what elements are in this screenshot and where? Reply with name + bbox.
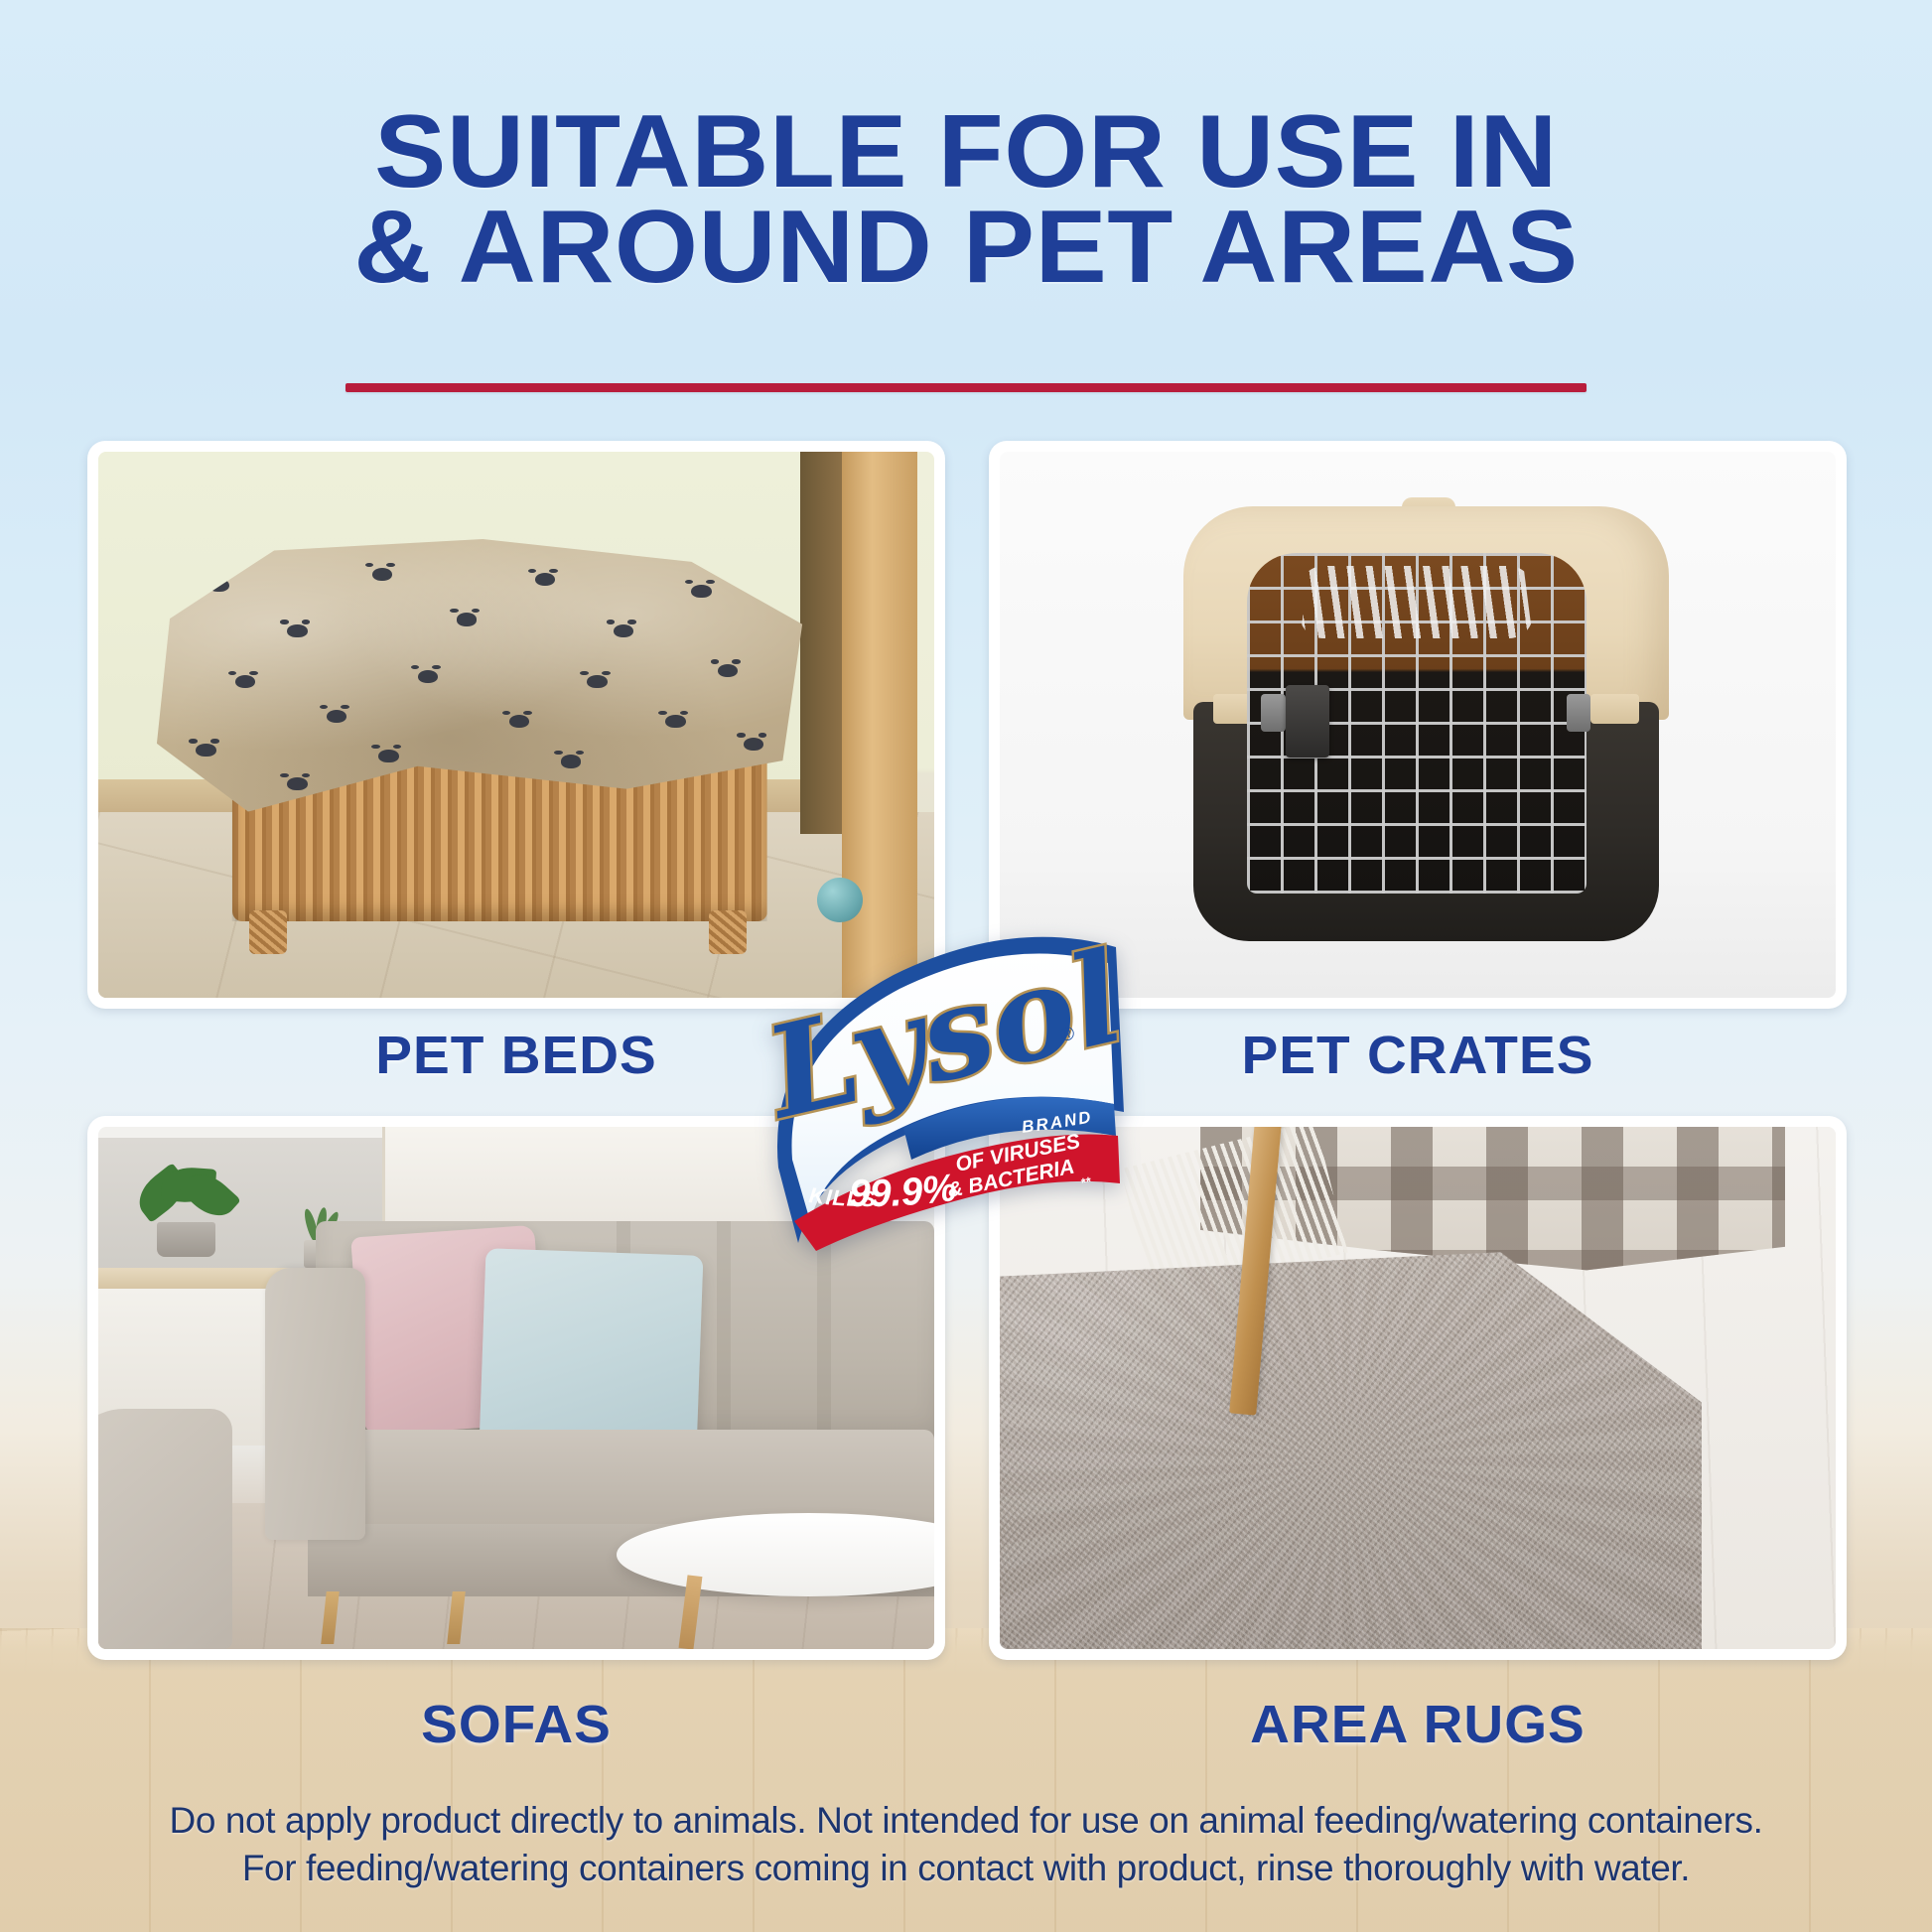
dog-toy-ball <box>817 878 862 922</box>
potted-plant-icon <box>140 1173 232 1257</box>
page-title-line-2: & AROUND PET AREAS <box>0 201 1932 296</box>
disclaimer-line-1: Do not apply product directly to animals… <box>0 1797 1932 1845</box>
poster-root: SUITABLE FOR USE IN & AROUND PET AREAS <box>0 0 1932 1932</box>
disclaimer-text: Do not apply product directly to animals… <box>0 1797 1932 1892</box>
caption-area-rugs: AREA RUGS <box>980 1694 1855 1755</box>
blue-cushion <box>480 1248 704 1453</box>
page-title: SUITABLE FOR USE IN & AROUND PET AREAS <box>0 105 1932 295</box>
caption-sofas: SOFAS <box>78 1694 953 1755</box>
logo-kills-percent: 99.9% <box>849 1167 959 1215</box>
logo-registered-mark: ® <box>1060 1025 1074 1045</box>
lysol-brand-logo: Lysol ® BRAND KILLS 99.9% OF VIRUSES & B… <box>755 923 1128 1251</box>
title-underline-rule <box>345 383 1587 392</box>
photo-pet-bed <box>98 452 934 998</box>
disclaimer-line-2: For feeding/watering containers coming i… <box>0 1845 1932 1892</box>
photo-pet-crate <box>1000 452 1836 998</box>
